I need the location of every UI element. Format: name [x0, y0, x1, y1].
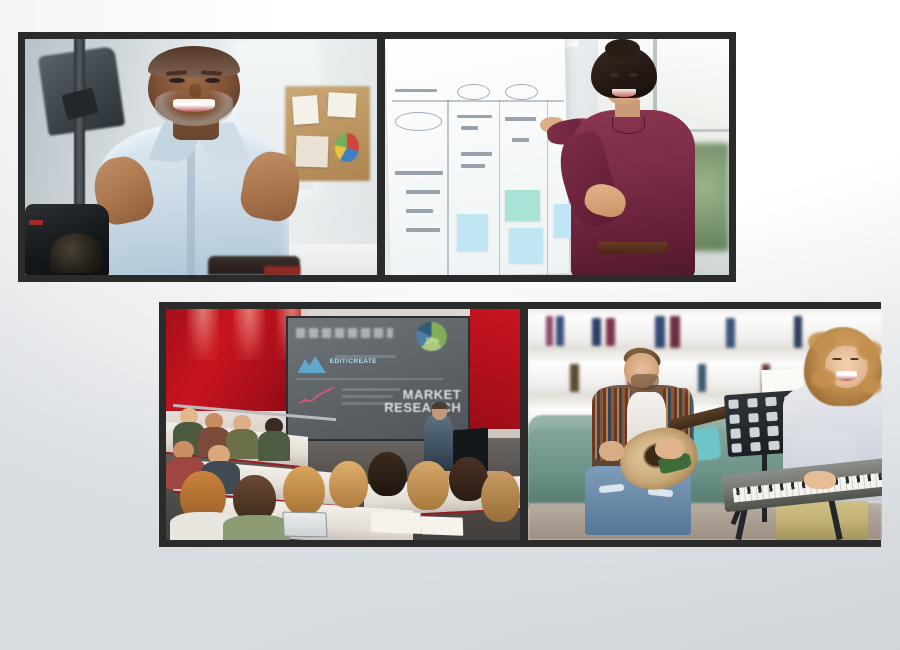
flipchart-scribble [461, 164, 485, 168]
sticky-note [457, 214, 488, 252]
tablet-device [282, 512, 328, 538]
singer-mouth [836, 371, 857, 380]
slide-divider [296, 378, 444, 380]
student-head-back [368, 452, 407, 496]
slide-headline-line1: MARKET [384, 388, 461, 401]
collage-block-top [18, 32, 736, 282]
stand-hole [729, 414, 740, 424]
student-body [258, 431, 290, 461]
book [546, 316, 554, 346]
red-wall-right [470, 309, 520, 429]
flipchart-bubble [505, 84, 538, 100]
shirt-placket [187, 145, 195, 275]
book [556, 316, 564, 346]
flipchart-scribble [395, 89, 436, 93]
flipchart-bubble [457, 84, 490, 100]
guitarist-fretting-hand [599, 441, 624, 462]
presenter-eye-right [629, 73, 638, 76]
flipchart-scribble [457, 115, 491, 119]
photo-flipchart-workshop[interactable] [385, 39, 729, 275]
slide-title-blurred [296, 328, 393, 339]
stand-hole [766, 411, 777, 421]
stand-hole [765, 396, 776, 406]
lecture-presenter-hair [432, 402, 448, 409]
mountain-chart-icon [297, 354, 326, 373]
pie-chart-icon [335, 133, 360, 161]
sticky-note [505, 190, 539, 221]
corkboard-note [292, 95, 319, 125]
flipchart-bubble [395, 112, 442, 131]
stand-hole [750, 441, 761, 451]
corkboard-note [296, 135, 329, 167]
singer-hand [804, 471, 836, 489]
flipchart-header-line [392, 100, 564, 101]
student-body [226, 429, 258, 459]
collage-block-bottom: EDIT/CREATE 27% MARKET RESEARCH [159, 302, 881, 547]
camera-red-accent [29, 220, 43, 226]
pie-chart-value: 27% [425, 338, 439, 345]
flipchart-scribble [406, 190, 440, 194]
student-head-back [481, 471, 520, 522]
stand-hole [767, 426, 778, 436]
flipchart-scribble [395, 171, 443, 175]
desk-object-red [264, 266, 299, 275]
presenter-nose [189, 84, 201, 98]
paper-sheet [371, 511, 421, 534]
book [606, 318, 615, 346]
stand-hole [768, 440, 779, 450]
student-head-back [283, 466, 325, 515]
slide-chart-label: EDIT/CREATE [330, 358, 377, 365]
photo-music-session[interactable] [528, 309, 882, 540]
corkboard-note [327, 93, 356, 118]
stand-hole [748, 412, 759, 422]
hair-curl [808, 332, 836, 350]
stand-hole [747, 398, 758, 408]
flipchart-scribble [406, 209, 434, 213]
presenter-hair-bun [605, 39, 639, 58]
book [726, 318, 734, 348]
student-head-back [407, 461, 449, 510]
flipchart-column-divider [499, 100, 501, 275]
stand-hole [728, 399, 739, 409]
collage-canvas: EDIT/CREATE 27% MARKET RESEARCH [0, 0, 900, 650]
book [794, 316, 802, 348]
stand-hole [731, 443, 742, 453]
photo-studio-presenter[interactable] [25, 39, 377, 275]
spotlight [187, 309, 219, 360]
spotlight [233, 309, 265, 360]
guitarist-strumming-hand [655, 438, 683, 459]
student-head-back [329, 461, 368, 507]
slide-headline: MARKET RESEARCH [384, 388, 461, 415]
book [698, 364, 706, 392]
sticky-note [509, 228, 543, 263]
singer-eye-left [832, 358, 841, 361]
book [655, 316, 665, 348]
stand-hole [749, 427, 760, 437]
flipchart-scribble [505, 117, 536, 121]
stand-hole [730, 428, 741, 438]
camera-lens [50, 233, 103, 273]
flipchart-scribble [406, 228, 440, 232]
hair-curl [857, 341, 882, 359]
flipchart-scribble [461, 152, 492, 156]
flipchart-scribble [512, 138, 529, 142]
book [670, 316, 680, 348]
slide-headline-line2: RESEARCH [384, 401, 461, 414]
flipchart-scribble [461, 126, 478, 130]
pie-chart-icon [416, 322, 447, 351]
line-chart-icon [299, 386, 335, 405]
hair-curl [811, 369, 836, 387]
guitarist-beard [631, 374, 659, 390]
presenter-mouth [612, 89, 636, 97]
paper-sheet [421, 516, 464, 536]
book [570, 364, 578, 392]
photo-lecture-hall[interactable]: EDIT/CREATE 27% MARKET RESEARCH [166, 309, 520, 540]
book [592, 318, 601, 346]
presenter-eye-left [610, 73, 619, 76]
presenter-belt [598, 242, 667, 254]
flipchart-column-divider [447, 100, 449, 275]
student-body [223, 515, 290, 540]
